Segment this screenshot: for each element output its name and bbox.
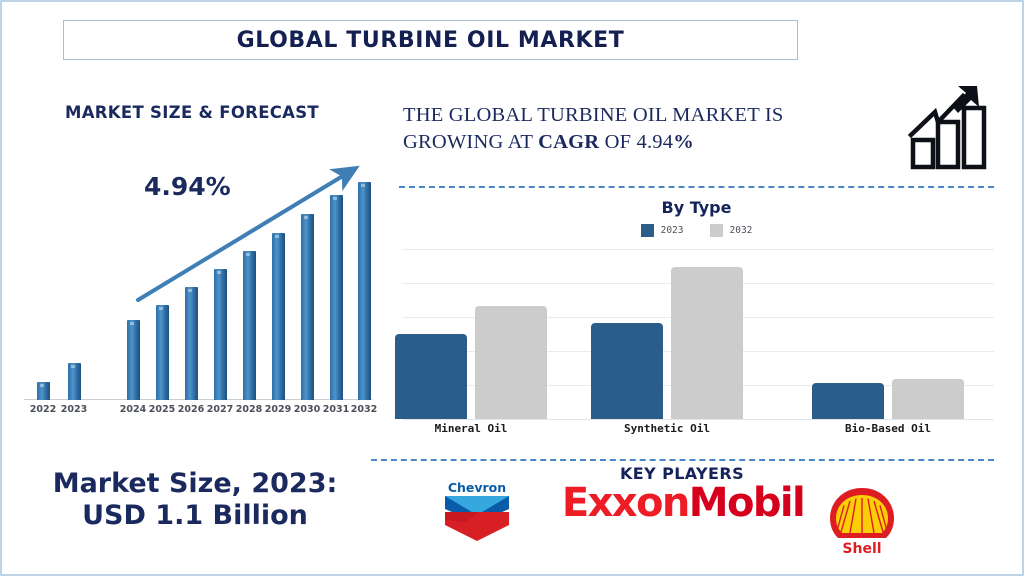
forecast-year-label: 2029 xyxy=(265,404,291,415)
hero-line-2: GROWING AT CAGR OF 4.94% xyxy=(403,129,873,156)
legend-swatch xyxy=(641,224,654,237)
forecast-bar xyxy=(68,363,81,400)
forecast-bar xyxy=(156,305,169,400)
market-size-line-2: USD 1.1 Billion xyxy=(16,500,374,532)
forecast-year-label: 2024 xyxy=(120,404,146,415)
exxonmobil-logo: ExxonMobil xyxy=(548,480,818,526)
by-type-bar xyxy=(671,267,743,419)
forecast-bar xyxy=(185,287,198,400)
shell-logo-label: Shell xyxy=(842,541,881,556)
by-type-category-label: Synthetic Oil xyxy=(624,422,710,435)
forecast-bar xyxy=(37,382,50,400)
by-type-chart-title: By Type xyxy=(399,198,994,217)
forecast-year-label: 2026 xyxy=(178,404,204,415)
page-title-box: GLOBAL TURBINE OIL MARKET xyxy=(63,20,798,60)
by-type-bar xyxy=(812,383,884,419)
legend-swatch xyxy=(710,224,723,237)
hero-line2-mid: OF 4.94 xyxy=(599,131,673,153)
by-type-chart-legend: 20232032 xyxy=(399,224,994,237)
chevron-logo-label: Chevron xyxy=(448,480,506,495)
hero-line2-pre: GROWING AT xyxy=(403,131,538,153)
market-size-forecast-label: MARKET SIZE & FORECAST xyxy=(65,103,319,122)
exxonmobil-logo-label: ExxonMobil xyxy=(562,483,804,523)
by-type-category-label: Bio-Based Oil xyxy=(845,422,931,435)
hero-statement: THE GLOBAL TURBINE OIL MARKET IS GROWING… xyxy=(403,102,873,156)
page-title: GLOBAL TURBINE OIL MARKET xyxy=(237,28,625,53)
by-type-chart-axis xyxy=(403,419,994,420)
forecast-year-label: 2022 xyxy=(30,404,56,415)
divider-top xyxy=(399,186,994,188)
forecast-bar xyxy=(243,251,256,400)
forecast-year-label: 2025 xyxy=(149,404,175,415)
legend-item[interactable]: 2032 xyxy=(710,224,753,237)
shell-logo: Shell xyxy=(820,484,904,556)
by-type-category-labels: Mineral OilSynthetic OilBio-Based Oil xyxy=(403,422,994,442)
forecast-bar xyxy=(214,269,227,400)
by-type-category-label: Mineral Oil xyxy=(435,422,508,435)
by-type-bar xyxy=(475,306,547,419)
forecast-year-label: 2032 xyxy=(351,404,377,415)
forecast-bar xyxy=(127,320,140,400)
gridline xyxy=(403,249,994,250)
legend-label: 2023 xyxy=(661,225,684,236)
forecast-year-label: 2023 xyxy=(61,404,87,415)
divider-bottom xyxy=(371,459,994,461)
hero-line-1: THE GLOBAL TURBINE OIL MARKET IS xyxy=(403,102,873,129)
forecast-year-label: 2027 xyxy=(207,404,233,415)
forecast-bars xyxy=(16,176,374,400)
hero-cagr-emphasis: CAGR xyxy=(538,131,599,153)
by-type-bar xyxy=(591,323,663,419)
market-size-line-1: Market Size, 2023: xyxy=(16,468,374,500)
legend-label: 2032 xyxy=(730,225,753,236)
chevron-logo: Chevron xyxy=(439,479,515,545)
forecast-year-label: 2028 xyxy=(236,404,262,415)
by-type-bar xyxy=(892,379,964,419)
hero-percent-emphasis: % xyxy=(673,131,694,153)
by-type-bar xyxy=(395,334,467,419)
market-size-forecast-chart: 4.94% 2022202320242025202620272028202920… xyxy=(16,152,374,424)
growth-bar-chart-arrow-icon xyxy=(907,82,997,170)
forecast-bar xyxy=(272,233,285,401)
by-type-chart-plot xyxy=(403,249,994,419)
infographic-page: GLOBAL TURBINE OIL MARKET MARKET SIZE & … xyxy=(0,0,1024,576)
forecast-bar xyxy=(301,214,314,400)
forecast-year-labels: 2022202320242025202620272028202920302031… xyxy=(16,404,374,420)
forecast-year-label: 2030 xyxy=(294,404,320,415)
legend-item[interactable]: 2023 xyxy=(641,224,684,237)
forecast-bar xyxy=(330,195,343,400)
forecast-year-label: 2031 xyxy=(323,404,349,415)
forecast-bar xyxy=(358,182,371,400)
market-size-value: Market Size, 2023: USD 1.1 Billion xyxy=(16,468,374,532)
